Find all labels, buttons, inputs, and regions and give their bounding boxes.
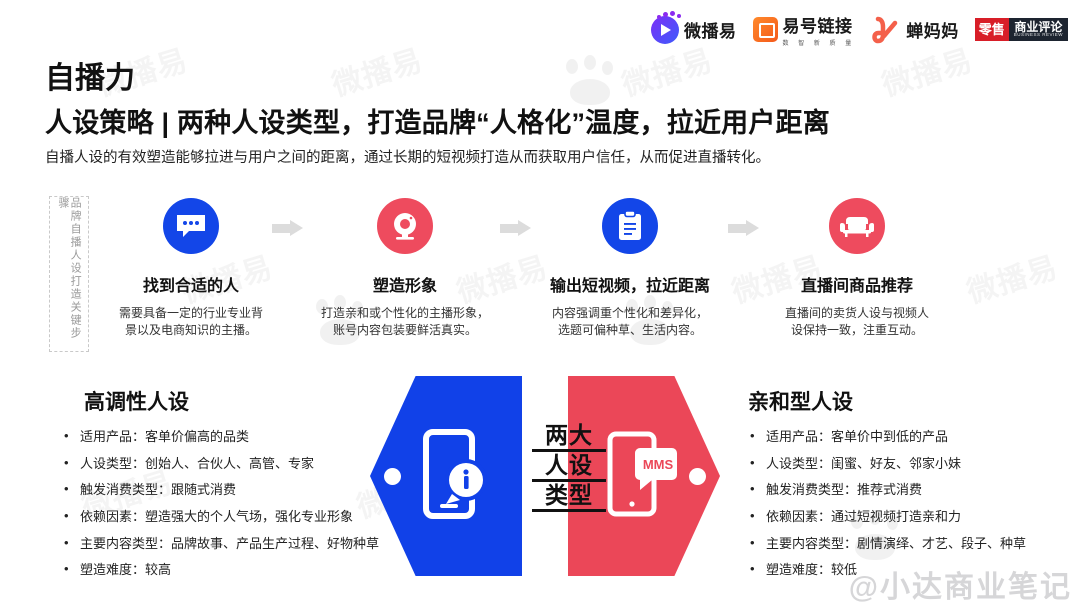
yihaolianjie-logo-label: 易号链接 (783, 12, 856, 37)
chanmama-swoosh-icon (871, 16, 901, 44)
lingshou-logo-secondary: 商业评论 BUSINESS REVIEW (1009, 18, 1068, 41)
page-kicker: 自播力 (45, 53, 135, 97)
step-3-description: 内容强调重个性化和差异化， 选题可偏种草、生活内容。 (525, 305, 735, 340)
persona-column-left: 高调性人设 适用产品：客单价偏高的品类 人设类型：创始人、合伙人、高管、专家 触… (62, 386, 392, 590)
slide-root: 微播易 微播易 微播易 微播易 微播易 微播易 微播易 微播易 微播易 微播易 … (0, 0, 1080, 608)
lingshou-logo: 零售 商业评论 BUSINESS REVIEW (975, 18, 1068, 41)
sofa-icon (840, 213, 874, 239)
phone-mms-icon: MMS (606, 428, 678, 525)
step-3-desc-line1: 内容强调重个性化和差异化， (539, 305, 721, 322)
list-item: 人设类型：闺蜜、好友、邻家小妹 (748, 457, 1078, 471)
step-3-icon-circle (602, 198, 658, 254)
step-1-desc-line2: 景以及电商知识的主播。 (100, 322, 282, 339)
center-label-line-2: 人设 (532, 452, 606, 482)
partner-logo-bar: 微播易 易号链接 数 智 新 质 量 蝉妈妈 零售 商业评论 BUSINESS … (651, 12, 1068, 47)
step-1-title: 找到合适的人 (86, 272, 296, 296)
persona-left-hexagon (370, 376, 522, 576)
chanmama-logo-label: 蝉妈妈 (906, 17, 959, 42)
yihaolianjie-logo-sublabel: 数 智 新 质 量 (783, 38, 856, 47)
list-item: 触发消费类型：跟随式消费 (62, 483, 392, 497)
step-1-description: 需要具备一定的行业专业背 景以及电商知识的主播。 (86, 305, 296, 340)
weiboyi-play-icon (651, 16, 679, 44)
step-4-title: 直播间商品推荐 (752, 272, 962, 296)
step-2-desc-line2: 账号内容包装要鲜活真实。 (314, 322, 496, 339)
hexagon-dot-left (384, 468, 401, 485)
list-item: 适用产品：客单价偏高的品类 (62, 430, 392, 444)
step-1-desc-line1: 需要具备一定的行业专业背 (100, 305, 282, 322)
step-3-title: 输出短视频，拉近距离 (525, 272, 735, 296)
phone-info-icon (422, 428, 488, 525)
list-item: 人设类型：创始人、合伙人、高管、专家 (62, 457, 392, 471)
step-4-desc-line1: 直播间的卖货人设与视频人 (766, 305, 948, 322)
step-3-desc-line2: 选题可偏种草、生活内容。 (539, 322, 721, 339)
page-title: 人设策略 | 两种人设类型，打造品牌“人格化”温度，拉近用户距离 (45, 101, 830, 140)
weiboyi-logo: 微播易 (651, 16, 737, 44)
step-item-2: 塑造形象 打造亲和或个性化的主播形象， 账号内容包装要鲜活真实。 (300, 192, 510, 340)
persona-left-title: 高调性人设 (62, 386, 392, 416)
vertical-section-label-text: 品牌自播人设打造关键步骤 (57, 197, 81, 351)
step-1-icon-circle (163, 198, 219, 254)
center-label: 两大 人设 类型 (532, 422, 606, 512)
list-item: 塑造难度：较高 (62, 563, 392, 577)
yihaolianjie-cart-icon (753, 17, 778, 42)
chanmama-logo: 蝉妈妈 (871, 16, 959, 44)
persona-column-right: 亲和型人设 适用产品：客单价中到低的产品 人设类型：闺蜜、好友、邻家小妹 触发消… (748, 386, 1078, 590)
clipboard-icon (616, 210, 644, 242)
list-item: 主要内容类型：剧情演绎、才艺、段子、种草 (748, 537, 1078, 551)
page-subtitle: 自播人设的有效塑造能够拉进与用户之间的距离，通过长期的短视频打造从而获取用户信任… (45, 146, 770, 167)
list-item: 适用产品：客单价中到低的产品 (748, 430, 1078, 444)
speech-bubble-icon (175, 212, 207, 240)
yihaolianjie-logo: 易号链接 数 智 新 质 量 (753, 12, 856, 47)
step-2-description: 打造亲和或个性化的主播形象， 账号内容包装要鲜活真实。 (300, 305, 510, 340)
step-item-4: 直播间商品推荐 直播间的卖货人设与视频人 设保持一致，注重互动。 (752, 192, 962, 340)
list-item: 依赖因素：通过短视频打造亲和力 (748, 510, 1078, 524)
center-label-line-1: 两大 (532, 422, 606, 452)
step-4-description: 直播间的卖货人设与视频人 设保持一致，注重互动。 (752, 305, 962, 340)
step-2-title: 塑造形象 (300, 272, 510, 296)
weiboyi-dots-icon (657, 11, 681, 20)
lingshou-logo-label: 零售 (975, 18, 1009, 41)
center-label-line-3: 类型 (532, 482, 606, 512)
list-item: 主要内容类型：品牌故事、产品生产过程、好物种草 (62, 537, 392, 551)
step-item-3: 输出短视频，拉近距离 内容强调重个性化和差异化， 选题可偏种草、生活内容。 (525, 192, 735, 340)
vertical-section-label: 品牌自播人设打造关键步骤 (49, 196, 89, 352)
paw-print-icon (560, 55, 620, 107)
step-4-icon-circle (829, 198, 885, 254)
author-watermark: @小达商业笔记 (849, 562, 1072, 606)
webcam-icon (389, 210, 421, 242)
step-2-desc-line1: 打造亲和或个性化的主播形象， (314, 305, 496, 322)
mms-label: MMS (643, 457, 674, 472)
weiboyi-logo-label: 微播易 (684, 17, 737, 42)
steps-section: 品牌自播人设打造关键步骤 找到合适的人 需要具备一定的行业专业背 景以及电商知识… (0, 192, 1080, 357)
persona-right-bullets: 适用产品：客单价中到低的产品 人设类型：闺蜜、好友、邻家小妹 触发消费类型：推荐… (748, 430, 1078, 577)
persona-hexagons: MMS 两大 人设 类型 (370, 376, 730, 586)
watermark-text: 微播易 (326, 35, 428, 104)
step-item-1: 找到合适的人 需要具备一定的行业专业背 景以及电商知识的主播。 (86, 192, 296, 340)
hexagon-dot-right (689, 468, 706, 485)
list-item: 依赖因素：塑造强大的个人气场，强化专业形象 (62, 510, 392, 524)
persona-left-bullets: 适用产品：客单价偏高的品类 人设类型：创始人、合伙人、高管、专家 触发消费类型：… (62, 430, 392, 577)
lingshou-logo-sublabel: BUSINESS REVIEW (1014, 33, 1063, 38)
step-4-desc-line2: 设保持一致，注重互动。 (766, 322, 948, 339)
persona-right-title: 亲和型人设 (748, 386, 1078, 416)
list-item: 触发消费类型：推荐式消费 (748, 483, 1078, 497)
step-2-icon-circle (377, 198, 433, 254)
